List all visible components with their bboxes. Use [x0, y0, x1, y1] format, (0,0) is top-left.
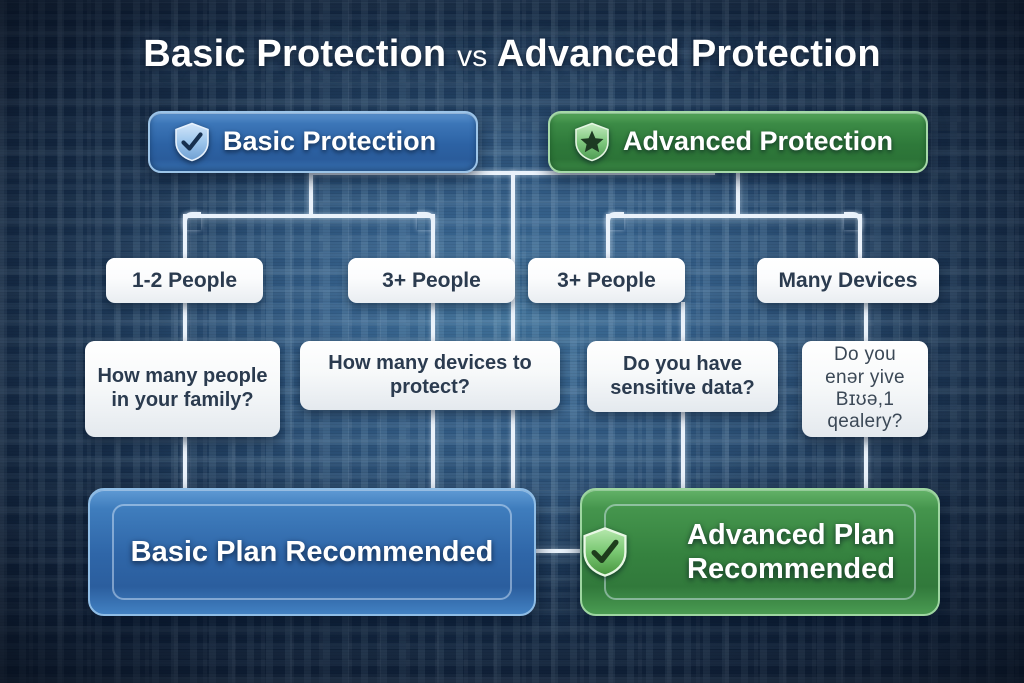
question-basic-1[interactable]: How many people in your family? — [85, 341, 280, 437]
question-advanced-2[interactable]: Do you enǝr yive Bɪʊǝ,1 qealery? — [802, 341, 928, 437]
connector-advanced-q1 — [681, 302, 685, 342]
shield-check-icon — [582, 526, 628, 578]
header-basic-protection[interactable]: Basic Protection — [148, 111, 478, 173]
connector-advanced-q2 — [864, 302, 868, 342]
header-basic-label: Basic Protection — [223, 126, 436, 157]
option-basic-2[interactable]: 3+ People — [348, 258, 515, 303]
result-advanced-content: Advanced Plan Recommended — [582, 518, 938, 586]
connector-basic-opt2 — [431, 214, 435, 258]
connector-basic-opt1 — [183, 214, 187, 258]
connector-advanced-q1-result — [681, 412, 685, 493]
title-vs: vs — [457, 40, 487, 73]
connector-advanced-opt2 — [858, 214, 862, 258]
connector-basic-q1-result — [183, 437, 187, 493]
result-basic-plan[interactable]: Basic Plan Recommended — [88, 488, 536, 616]
title-part-basic: Basic Protection — [143, 33, 446, 75]
connector-advanced-bar — [608, 214, 860, 218]
connector-advanced-q2-result — [864, 437, 868, 493]
page-title: Basic Protection vs Advanced Protection — [0, 33, 1024, 76]
connector-basic-bar — [185, 214, 433, 218]
connector-basic-q1 — [183, 302, 187, 342]
shield-star-icon — [574, 122, 610, 162]
header-advanced-label: Advanced Protection — [623, 126, 893, 157]
question-basic-2[interactable]: How many devices to protect? — [300, 341, 560, 410]
connector-basic-drop — [309, 171, 313, 216]
title-part-advanced: Advanced Protection — [497, 33, 881, 75]
result-advanced-plan[interactable]: Advanced Plan Recommended — [580, 488, 940, 616]
connector-results-link — [532, 549, 584, 553]
header-advanced-protection[interactable]: Advanced Protection — [548, 111, 928, 173]
question-advanced-1[interactable]: Do you have sensitive data? — [587, 341, 778, 412]
connector-basic-q2-result — [431, 410, 435, 493]
result-basic-content: Basic Plan Recommended — [131, 535, 494, 569]
shield-check-icon — [174, 122, 210, 162]
connector-advanced-opt1 — [606, 214, 610, 258]
option-advanced-2[interactable]: Many Devices — [757, 258, 939, 303]
option-basic-1[interactable]: 1-2 People — [106, 258, 263, 303]
result-advanced-label: Advanced Plan Recommended — [644, 518, 938, 586]
connector-basic-q2 — [431, 302, 435, 342]
result-basic-label: Basic Plan Recommended — [131, 535, 494, 569]
option-advanced-1[interactable]: 3+ People — [528, 258, 685, 303]
connector-advanced-drop — [736, 171, 740, 216]
